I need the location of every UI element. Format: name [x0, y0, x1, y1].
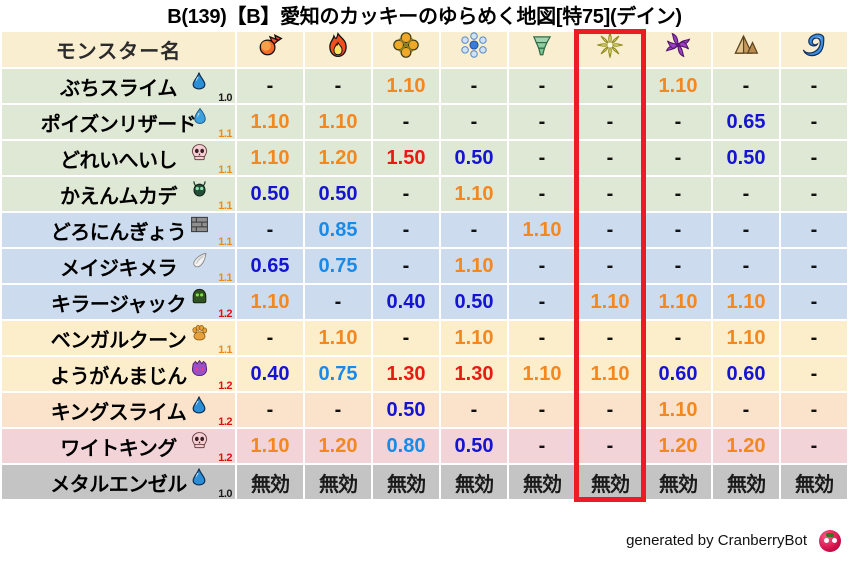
resistance-cell: 1.10	[305, 321, 371, 355]
resistance-cell: -	[577, 429, 643, 463]
header-wave-icon[interactable]	[781, 32, 847, 67]
resistance-cell: -	[781, 177, 847, 211]
header-flame-icon[interactable]	[305, 32, 371, 67]
monster-name-cell[interactable]: どれいへいし1.1	[2, 141, 235, 175]
monster-name-label: ぶちスライム	[60, 72, 177, 101]
resistance-cell: 1.10	[645, 285, 711, 319]
resistance-cell: 無効	[645, 465, 711, 499]
header-lightburst-icon[interactable]	[577, 32, 643, 67]
table-row: メイジキメラ1.10.650.75-1.10-----	[2, 249, 847, 283]
header-meteor-icon[interactable]	[237, 32, 303, 67]
resistance-cell: 1.10	[441, 321, 507, 355]
resistance-cell: -	[713, 177, 779, 211]
resistance-cell: -	[509, 285, 575, 319]
monster-name-label: ポイズンリザード	[41, 108, 196, 137]
resistance-cell: 無効	[509, 465, 575, 499]
resistance-cell: -	[713, 249, 779, 283]
slime-icon	[189, 467, 209, 493]
resistance-cell: -	[373, 213, 439, 247]
resistance-cell: 1.10	[441, 249, 507, 283]
resistance-cell: -	[713, 69, 779, 103]
resistance-cell: -	[577, 393, 643, 427]
resistance-cell: -	[781, 249, 847, 283]
resistance-cell: 1.30	[373, 357, 439, 391]
monster-name-label: ベンガルクーン	[51, 324, 187, 353]
header-darkswirl-icon[interactable]	[645, 32, 711, 67]
resistance-cell: -	[645, 213, 711, 247]
resistance-cell: 0.75	[305, 249, 371, 283]
table-row: どれいへいし1.11.101.201.500.50---0.50-	[2, 141, 847, 175]
monster-version-badge: 1.2	[218, 416, 232, 427]
snowflake-icon	[441, 32, 507, 67]
monster-name-cell[interactable]: メイジキメラ1.1	[2, 249, 235, 283]
flame-icon	[305, 32, 371, 67]
resistance-cell: -	[237, 69, 303, 103]
monster-name-label: どれいへいし	[60, 144, 177, 173]
resistance-cell: -	[645, 321, 711, 355]
resistance-cell: 0.50	[441, 285, 507, 319]
resistance-cell: -	[713, 393, 779, 427]
resistance-cell: 1.20	[713, 429, 779, 463]
resistance-cell: 0.60	[645, 357, 711, 391]
resistance-cell: -	[305, 285, 371, 319]
monster-name-cell[interactable]: キラージャック1.2	[2, 285, 235, 319]
table-row: どろにんぎょう1.1-0.85--1.10----	[2, 213, 847, 247]
resistance-cell: -	[781, 285, 847, 319]
table-body: モンスター名ぶちスライム1.0--1.10---1.10--ポイズンリザード1.…	[2, 32, 847, 499]
darkswirl-icon	[645, 32, 711, 67]
monster-name-cell[interactable]: ぶちスライム1.0	[2, 69, 235, 103]
table-row: ぶちスライム1.0--1.10---1.10--	[2, 69, 847, 103]
monster-version-badge: 1.2	[218, 452, 232, 463]
monster-version-badge: 1.2	[218, 308, 232, 319]
table-row: かえんムカデ1.10.500.50-1.10-----	[2, 177, 847, 211]
monster-name-label: かえんムカデ	[60, 180, 177, 209]
resistance-cell: 0.65	[237, 249, 303, 283]
header-tornado-icon[interactable]	[509, 32, 575, 67]
resistance-cell: -	[781, 429, 847, 463]
resistance-cell: -	[577, 213, 643, 247]
monster-name-label: ようがんまじん	[50, 360, 187, 389]
purpleblob-icon	[190, 359, 209, 384]
resistance-cell: -	[645, 141, 711, 175]
monster-version-badge: 1.1	[218, 272, 232, 283]
resistance-cell: 1.10	[373, 69, 439, 103]
resistance-cell: 1.10	[441, 177, 507, 211]
meteor-icon	[237, 32, 303, 67]
table-header-row: モンスター名	[2, 32, 847, 67]
header-snowflake-icon[interactable]	[441, 32, 507, 67]
resistance-cell: 0.80	[373, 429, 439, 463]
wave-icon	[781, 32, 847, 67]
monster-version-badge: 1.0	[218, 92, 232, 103]
resistance-cell: -	[441, 69, 507, 103]
resistance-cell: 1.20	[305, 429, 371, 463]
resistance-cell: 0.40	[237, 357, 303, 391]
resistance-cell: -	[509, 177, 575, 211]
resistance-cell: -	[441, 105, 507, 139]
resistance-cell: 0.50	[237, 177, 303, 211]
resistance-cell: -	[509, 249, 575, 283]
monster-version-badge: 1.0	[218, 488, 232, 499]
resistance-cell: 1.30	[441, 357, 507, 391]
resistance-cell: 1.10	[305, 105, 371, 139]
resistance-cell: -	[509, 321, 575, 355]
footer: generated by CranberryBot	[0, 530, 849, 560]
resistance-cell: -	[305, 393, 371, 427]
resistance-cell: -	[577, 249, 643, 283]
resistance-cell: -	[305, 69, 371, 103]
resistance-cell: -	[373, 249, 439, 283]
resistance-cell: 1.20	[305, 141, 371, 175]
resistance-cell: 無効	[373, 465, 439, 499]
resistance-cell: -	[645, 177, 711, 211]
resistance-cell: -	[713, 213, 779, 247]
resistance-cell: 1.50	[373, 141, 439, 175]
monster-version-badge: 1.1	[218, 164, 232, 175]
bug-icon	[190, 179, 209, 204]
resistance-cell: 1.10	[237, 285, 303, 319]
monster-name-cell[interactable]: ポイズンリザード1.1	[2, 105, 235, 139]
explosion-icon	[373, 32, 439, 67]
resistance-cell: 0.50	[373, 393, 439, 427]
footer-credit: generated by CranberryBot	[626, 532, 807, 549]
table-row: キングスライム1.2--0.50---1.10--	[2, 393, 847, 427]
resistance-cell: 0.65	[713, 105, 779, 139]
monster-name-cell[interactable]: どろにんぎょう1.1	[2, 213, 235, 247]
resistance-cell: -	[441, 213, 507, 247]
monster-name-cell[interactable]: ワイトキング1.2	[2, 429, 235, 463]
header-mountain-icon[interactable]	[713, 32, 779, 67]
mountain-icon	[713, 32, 779, 67]
resistance-cell: 1.10	[645, 69, 711, 103]
resistance-cell: -	[441, 393, 507, 427]
monster-name-cell[interactable]: ベンガルクーン1.1	[2, 321, 235, 355]
monster-name-label: どろにんぎょう	[51, 216, 187, 245]
slime-icon	[189, 71, 209, 97]
skull-icon	[190, 143, 209, 168]
resistance-cell: -	[781, 69, 847, 103]
resistance-cell: 1.10	[509, 357, 575, 391]
resistance-cell: 無効	[713, 465, 779, 499]
resistance-cell: -	[781, 393, 847, 427]
resistance-table: モンスター名ぶちスライム1.0--1.10---1.10--ポイズンリザード1.…	[0, 30, 849, 501]
wing-icon	[190, 251, 209, 276]
resistance-cell: -	[373, 177, 439, 211]
paw-icon	[190, 323, 209, 348]
monster-name-label: キラージャック	[51, 288, 186, 317]
monster-name-label: メタルエンゼル	[50, 468, 187, 497]
resistance-cell: 0.60	[713, 357, 779, 391]
monster-version-badge: 1.1	[218, 200, 232, 211]
resistance-cell: 無効	[305, 465, 371, 499]
resistance-cell: -	[509, 105, 575, 139]
monster-version-badge: 1.2	[218, 380, 232, 391]
table-row: キラージャック1.21.10-0.400.50-1.101.101.10-	[2, 285, 847, 319]
resistance-cell: 0.50	[305, 177, 371, 211]
resistance-cell: 無効	[441, 465, 507, 499]
monster-name-label: メイジキメラ	[60, 252, 177, 281]
resistance-table-wrap: モンスター名ぶちスライム1.0--1.10---1.10--ポイズンリザード1.…	[0, 30, 849, 530]
brick-icon	[190, 215, 209, 240]
resistance-cell: 1.20	[645, 429, 711, 463]
resistance-cell: 無効	[577, 465, 643, 499]
resistance-cell: -	[237, 213, 303, 247]
monster-name-cell[interactable]: ようがんまじん1.2	[2, 357, 235, 391]
cranberry-icon	[819, 530, 841, 557]
resistance-cell: 0.50	[713, 141, 779, 175]
resistance-cell: 1.10	[713, 285, 779, 319]
header-monster-name: モンスター名	[2, 32, 235, 67]
resistance-cell: 1.10	[237, 105, 303, 139]
resistance-cell: 1.10	[577, 357, 643, 391]
resistance-cell: -	[509, 69, 575, 103]
lightburst-icon	[577, 32, 643, 67]
table-row: ようがんまじん1.20.400.751.301.301.101.100.600.…	[2, 357, 847, 391]
monster-name-label: ワイトキング	[60, 432, 176, 461]
slime-icon	[189, 395, 209, 421]
resistance-cell: -	[781, 105, 847, 139]
resistance-cell: -	[577, 321, 643, 355]
resistance-cell: -	[509, 429, 575, 463]
monster-name-cell[interactable]: キングスライム1.2	[2, 393, 235, 427]
resistance-cell: 0.40	[373, 285, 439, 319]
resistance-cell: -	[509, 141, 575, 175]
resistance-cell: 1.10	[237, 429, 303, 463]
resistance-cell: -	[781, 141, 847, 175]
droplet-icon	[191, 107, 209, 131]
monster-name-cell[interactable]: かえんムカデ1.1	[2, 177, 235, 211]
monster-name-cell[interactable]: メタルエンゼル1.0	[2, 465, 235, 499]
resistance-cell: 0.50	[441, 141, 507, 175]
monster-version-badge: 1.1	[218, 344, 232, 355]
resistance-cell: -	[373, 105, 439, 139]
resistance-cell: -	[577, 177, 643, 211]
monster-version-badge: 1.1	[218, 236, 232, 247]
resistance-cell: 0.50	[441, 429, 507, 463]
resistance-cell: 0.85	[305, 213, 371, 247]
resistance-cell: -	[577, 69, 643, 103]
table-row: ワイトキング1.21.101.200.800.50--1.201.20-	[2, 429, 847, 463]
resistance-cell: 1.10	[509, 213, 575, 247]
resistance-cell: -	[577, 141, 643, 175]
table-row: メタルエンゼル1.0無効無効無効無効無効無効無効無効無効	[2, 465, 847, 499]
table-row: ポイズンリザード1.11.101.10-----0.65-	[2, 105, 847, 139]
page-title: B(139)【B】愛知のカッキーのゆらめく地図[特75](デイン)	[0, 0, 849, 30]
resistance-cell: 1.10	[237, 141, 303, 175]
resistance-cell: 無効	[781, 465, 847, 499]
skull-icon	[190, 431, 209, 456]
table-row: ベンガルクーン1.1-1.10-1.10---1.10-	[2, 321, 847, 355]
greenblob-icon	[190, 287, 209, 312]
resistance-cell: 無効	[237, 465, 303, 499]
resistance-cell: -	[645, 249, 711, 283]
resistance-cell: -	[781, 321, 847, 355]
resistance-cell: -	[237, 393, 303, 427]
resistance-cell: -	[781, 357, 847, 391]
resistance-cell: 1.10	[577, 285, 643, 319]
resistance-cell: -	[373, 321, 439, 355]
tornado-icon	[509, 32, 575, 67]
resistance-cell: -	[577, 105, 643, 139]
resistance-cell: -	[781, 213, 847, 247]
resistance-cell: 0.75	[305, 357, 371, 391]
resistance-cell: -	[645, 105, 711, 139]
resistance-cell: 1.10	[713, 321, 779, 355]
resistance-cell: 1.10	[645, 393, 711, 427]
monster-version-badge: 1.1	[218, 128, 232, 139]
monster-name-label: キングスライム	[51, 396, 187, 425]
resistance-cell: -	[509, 393, 575, 427]
resistance-cell: -	[237, 321, 303, 355]
header-explosion-icon[interactable]	[373, 32, 439, 67]
